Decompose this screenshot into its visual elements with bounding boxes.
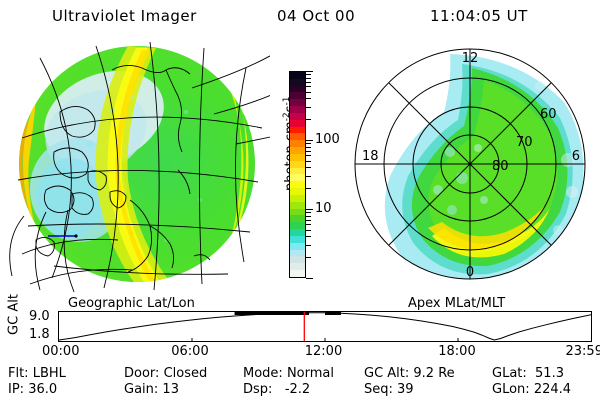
status-glon-label: GLon: <box>492 382 530 397</box>
apex-polar-panel[interactable]: 12 18 6 0 60 70 80 <box>332 40 600 300</box>
colorbar-tick <box>306 236 311 237</box>
colorbar-segment <box>290 229 305 236</box>
colorbar-segment <box>290 99 305 106</box>
mlat-label-70: 70 <box>516 135 533 150</box>
status-ip-label: IP: <box>8 382 24 397</box>
colorbar-segment <box>290 215 305 222</box>
status-seq: Seq: 39 <box>364 382 414 397</box>
colorbar-tick <box>306 86 311 87</box>
status-glon-value: 224.4 <box>534 382 571 397</box>
colorbar-segment <box>290 236 305 243</box>
colorbar-segment <box>290 154 305 161</box>
colorbar-tick <box>306 278 313 279</box>
colorbar-tick <box>306 71 313 72</box>
colorbar-tick <box>306 151 311 152</box>
strip-x-ticks <box>192 338 458 341</box>
status-glon: GLon: 224.4 <box>492 382 571 397</box>
colorbar-segment <box>290 127 305 134</box>
colorbar-segment <box>290 120 305 127</box>
status-dsp: Dsp: -2.2 <box>243 382 310 397</box>
status-gcalt-label: GC Alt: <box>364 366 409 381</box>
colorbar-tick <box>306 188 311 189</box>
colorbar-tick <box>306 107 311 108</box>
observation-date: 04 Oct 00 <box>277 7 355 25</box>
colorbar-segment <box>290 209 305 216</box>
polar-aurora-layer <box>385 54 584 287</box>
colorbar-tick <box>306 82 311 83</box>
status-gcalt: GC Alt: 9.2 Re <box>364 366 455 381</box>
colorbar-label: 10 <box>315 201 332 216</box>
altitude-curve-plot <box>59 312 591 341</box>
colorbar-tick <box>306 143 311 144</box>
colorbar-segment <box>290 243 305 250</box>
status-dsp-value: -2.2 <box>285 382 310 397</box>
colorbar-tick <box>306 78 311 79</box>
status-ip-value: 36.0 <box>28 382 57 397</box>
mlt-label-18: 18 <box>362 149 379 164</box>
colorbar-segment <box>290 181 305 188</box>
observation-time: 11:04:05 UT <box>430 7 528 25</box>
colorbar-segment <box>290 72 305 79</box>
status-door: Door: Closed <box>124 366 207 381</box>
mlt-label-6: 6 <box>572 149 580 164</box>
status-gcalt-value: 9.2 Re <box>413 366 454 381</box>
colorbar-ticks <box>306 71 314 278</box>
strip-x-label: 18:00 <box>438 344 475 359</box>
mlt-label-0: 0 <box>466 265 474 280</box>
colorbar-segment <box>290 263 305 270</box>
status-filter-label: Flt: <box>8 366 29 381</box>
colorbar-segment <box>290 106 305 113</box>
status-mode-value: Normal <box>287 366 334 381</box>
uvi-display-root: Ultraviolet Imager 04 Oct 00 11:04:05 UT <box>0 0 600 400</box>
strip-ytick-high: 9.0 <box>29 309 50 324</box>
mlt-label-12: 12 <box>462 51 479 66</box>
colorbar-segment <box>290 86 305 93</box>
status-ip: IP: 36.0 <box>8 382 57 397</box>
colorbar-tick <box>306 167 311 168</box>
status-mode-label: Mode: <box>243 366 283 381</box>
strip-title-right: Apex MLat/MLT <box>408 296 505 311</box>
colorbar-segment <box>290 256 305 263</box>
polar-grid <box>355 49 585 279</box>
mlat-label-80: 80 <box>492 159 509 174</box>
colorbar-tick <box>306 161 311 162</box>
colorbar-segment <box>290 140 305 147</box>
colorbar-gradient <box>289 71 306 278</box>
colorbar-tick <box>306 209 313 210</box>
status-filter-value: LBHL <box>33 366 66 381</box>
colorbar-tick <box>306 230 311 231</box>
colorbar-segment <box>290 195 305 202</box>
colorbar-segment <box>290 174 305 181</box>
colorbar-tick <box>306 155 311 156</box>
altitude-strip-chart[interactable] <box>58 311 592 342</box>
strip-x-label: 12:00 <box>305 344 342 359</box>
colorbar-panel[interactable]: photon cm-2s-1 10010 <box>262 40 332 300</box>
colorbar-tick <box>306 245 311 246</box>
status-filter: Flt: LBHL <box>8 366 66 381</box>
colorbar-segment <box>290 147 305 154</box>
colorbar-segment <box>290 133 305 140</box>
status-seq-value: 39 <box>397 382 414 397</box>
colorbar-segment <box>290 222 305 229</box>
status-glat: GLat: 51.3 <box>492 366 564 381</box>
status-seq-label: Seq: <box>364 382 393 397</box>
strip-x-label: 00:00 <box>42 344 79 359</box>
colorbar-segment <box>290 161 305 168</box>
colorbar-tick <box>306 216 311 217</box>
colorbar-tick <box>306 224 311 225</box>
colorbar-segment <box>290 168 305 175</box>
colorbar-tick <box>306 220 311 221</box>
colorbar-tick <box>306 98 311 99</box>
status-dsp-label: Dsp: <box>243 382 272 397</box>
status-glat-label: GLat: <box>492 366 527 381</box>
colorbar-segment <box>290 270 305 277</box>
subsatellite-point <box>74 234 77 237</box>
colorbar-segment <box>290 202 305 209</box>
strip-x-label: 23:59 <box>566 344 600 359</box>
colorbar-tick <box>306 147 311 148</box>
status-door-value: Closed <box>164 366 208 381</box>
colorbar-tick <box>306 92 311 93</box>
colorbar-segment <box>290 79 305 86</box>
colorbar-segment <box>290 113 305 120</box>
globe-image <box>0 40 270 300</box>
status-door-label: Door: <box>124 366 159 381</box>
colorbar-tick <box>306 74 311 75</box>
strip-title-left: Geographic Lat/Lon <box>68 296 195 311</box>
colorbar-tick <box>306 257 311 258</box>
instrument-title: Ultraviolet Imager <box>52 7 197 25</box>
status-glat-value: 51.3 <box>535 366 564 381</box>
strip-y-axis-label: GC Alt <box>7 287 22 343</box>
colorbar-segment <box>290 92 305 99</box>
status-gain: Gain: 13 <box>124 382 179 397</box>
altitude-curve <box>59 313 591 340</box>
colorbar-tick <box>306 176 311 177</box>
polar-plot-image: 12 18 6 0 60 70 80 <box>332 40 600 300</box>
mlat-label-60: 60 <box>540 107 557 122</box>
geographic-globe-panel[interactable] <box>0 40 270 300</box>
status-mode: Mode: Normal <box>243 366 334 381</box>
colorbar-segment <box>290 250 305 257</box>
colorbar-tick <box>306 140 313 141</box>
status-gain-label: Gain: <box>124 382 158 397</box>
strip-x-label: 06:00 <box>171 344 208 359</box>
colorbar-tick <box>306 212 311 213</box>
status-gain-value: 13 <box>162 382 179 397</box>
strip-ytick-low: 1.8 <box>29 327 50 342</box>
colorbar-tick <box>306 119 311 120</box>
colorbar-segment <box>290 188 305 195</box>
